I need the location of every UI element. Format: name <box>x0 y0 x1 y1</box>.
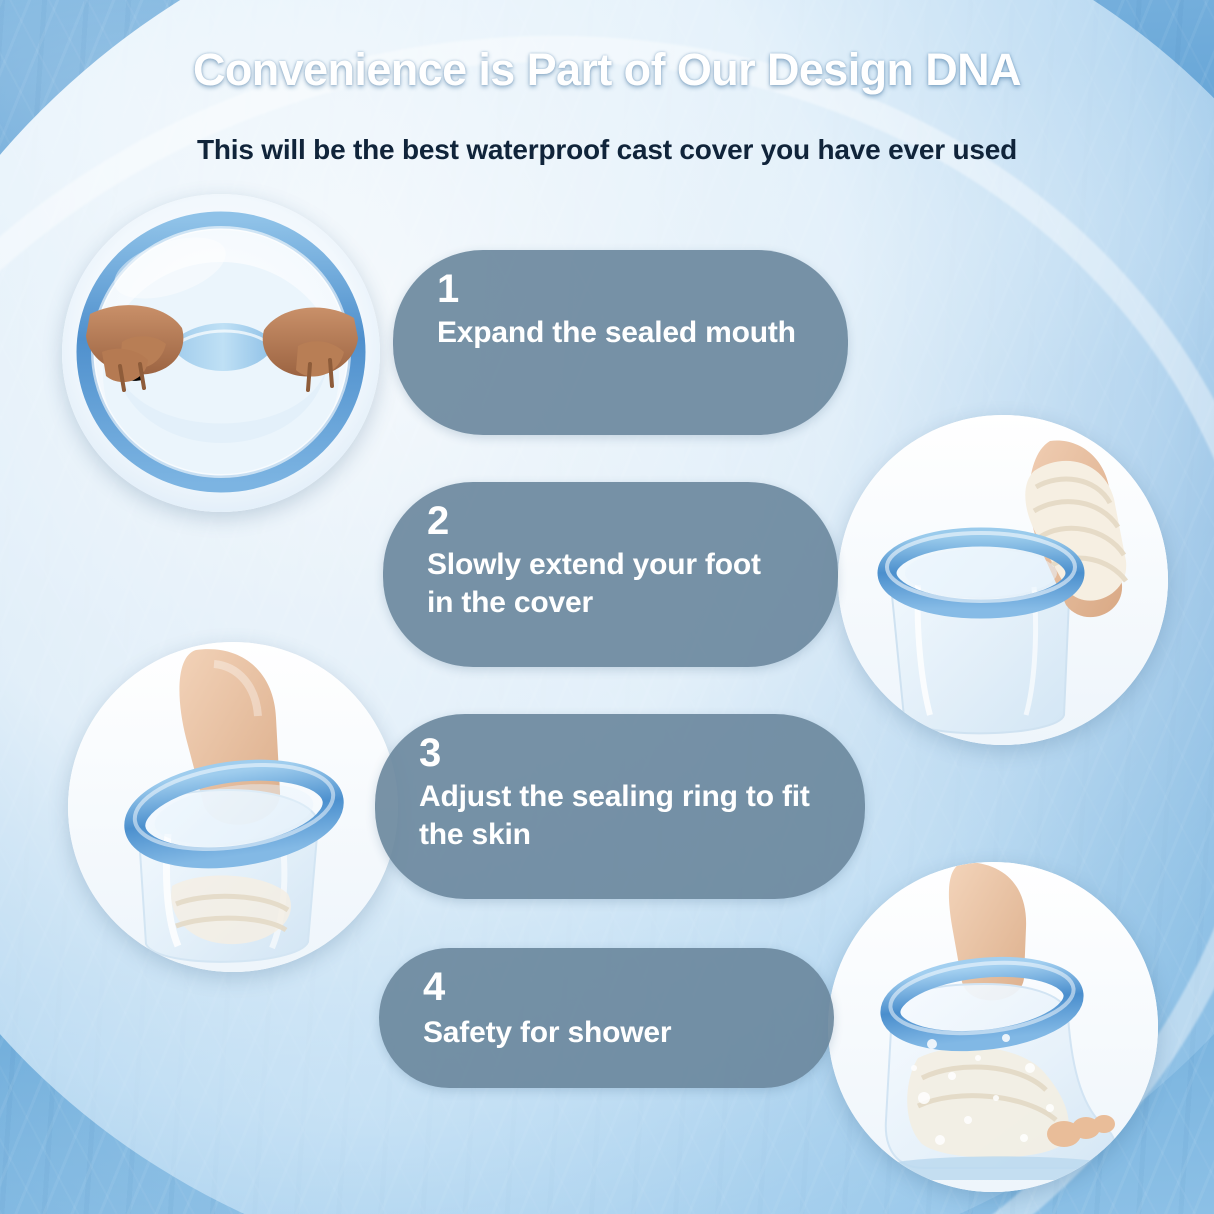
step-1-text: Expand the sealed mouth <box>437 314 804 352</box>
step-3-pill: 3 Adjust the sealing ring to fit the ski… <box>375 714 865 899</box>
page-subtitle: This will be the best waterproof cast co… <box>0 134 1214 166</box>
step-2-pill: 2 Slowly extend your foot in the cover <box>383 482 838 667</box>
step-4-pill: 4 Safety for shower <box>379 948 834 1088</box>
step-3-text: Adjust the sealing ring to fit the skin <box>419 778 821 853</box>
step-2-photo <box>838 415 1168 745</box>
step-2-number: 2 <box>427 500 794 542</box>
step-1-pill: 1 Expand the sealed mouth <box>393 250 848 435</box>
step-3-photo <box>68 642 398 972</box>
step-4-number: 4 <box>423 966 790 1008</box>
step-3-number: 3 <box>419 732 821 774</box>
step-1-photo <box>62 194 380 512</box>
page-title: Convenience is Part of Our Design DNA <box>0 44 1214 96</box>
step-4-photo <box>828 862 1158 1192</box>
step-1-number: 1 <box>437 268 804 310</box>
cast-cover-sealing-ring-on-leg-icon <box>68 642 398 972</box>
hands-stretching-sealing-ring-icon <box>62 194 380 512</box>
step-4-text: Safety for shower <box>423 1014 790 1052</box>
step-2-text: Slowly extend your foot in the cover <box>427 546 794 621</box>
bandaged-foot-entering-cover-icon <box>838 415 1168 745</box>
foot-in-cover-with-water-droplets-icon <box>828 862 1158 1192</box>
